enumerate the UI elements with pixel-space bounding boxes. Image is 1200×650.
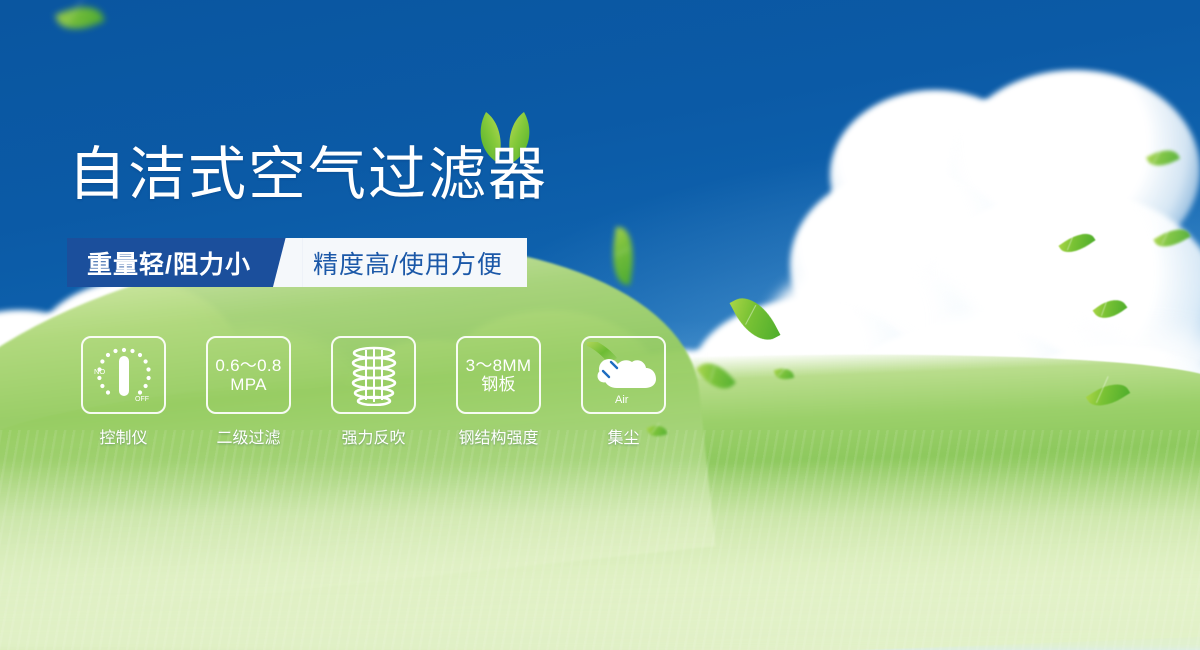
feature-label: 控制仪	[99, 424, 147, 448]
page-title: 自洁式空气过滤器	[68, 146, 548, 204]
feature-icon-box: NO OFF	[81, 336, 166, 414]
dial-off-label: OFF	[135, 396, 149, 403]
feature-item[interactable]: Air 集尘	[580, 336, 667, 448]
air-label: Air	[615, 394, 629, 406]
cloud-air-icon: Air	[587, 342, 661, 408]
feature-icon-box	[331, 336, 416, 414]
feature-item[interactable]: 0.6～0.8 MPA 二级过滤	[205, 336, 292, 448]
feature-item[interactable]: 强力反吹	[330, 336, 417, 448]
product-hero-banner: 自洁式空气过滤器 重量轻/阻力小 精度高/使用方便	[0, 0, 1200, 650]
feature-item[interactable]: 3～8MM 钢板 钢结构强度	[455, 336, 542, 448]
feature-label: 集尘	[607, 424, 639, 448]
subtitle-slant-divider	[273, 238, 303, 287]
subtitle-right-text: 精度高/使用方便	[303, 238, 527, 287]
feature-label: 强力反吹	[341, 424, 405, 448]
feature-icon-box: Air	[581, 336, 666, 414]
dial-on-label: NO	[94, 367, 105, 376]
gauge-dial-icon: NO OFF	[87, 342, 161, 408]
pressure-text-icon: 0.6～0.8 MPA	[215, 356, 281, 394]
feature-icon-box: 0.6～0.8 MPA	[206, 336, 291, 414]
banner-content: 自洁式空气过滤器 重量轻/阻力小 精度高/使用方便	[0, 0, 1200, 650]
filter-coil-icon	[344, 344, 404, 406]
feature-item[interactable]: NO OFF 控制仪	[80, 336, 167, 448]
feature-icon-box: 3～8MM 钢板	[456, 336, 541, 414]
subtitle-left-text: 重量轻/阻力小	[67, 238, 273, 287]
feature-label: 钢结构强度	[458, 424, 538, 448]
feature-label: 二级过滤	[216, 424, 280, 448]
steel-plate-text-icon: 3～8MM 钢板	[466, 356, 532, 394]
feature-list: NO OFF 控制仪 0.6～0.8 MPA 二级过滤	[80, 336, 667, 448]
subtitle-bar: 重量轻/阻力小 精度高/使用方便	[67, 238, 527, 287]
